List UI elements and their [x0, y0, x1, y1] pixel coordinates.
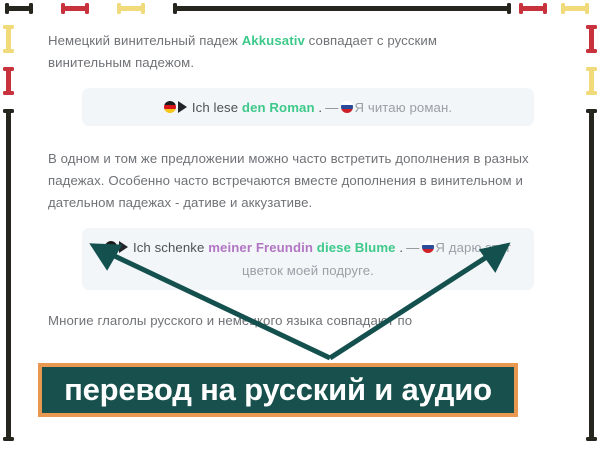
akkusativ-highlight: Akkusativ — [242, 33, 305, 48]
german-flag-icon — [164, 101, 176, 113]
example-2-de-prefix: Ich schenke — [133, 240, 208, 255]
callout-banner-label: перевод на русский и аудио — [64, 372, 492, 408]
example-2-de-accusative: diese Blume — [317, 240, 396, 255]
example-box-1[interactable]: Ich lese den Roman .—Я читаю роман. — [82, 88, 534, 126]
example-2-de-dative: meiner Freundin — [208, 240, 313, 255]
russian-flag-icon — [422, 241, 434, 253]
callout-banner: перевод на русский и аудио — [38, 363, 518, 417]
lesson-content: Немецкий винительный падеж Akkusativ сов… — [0, 0, 600, 460]
example-1-de-prefix: Ich lese — [192, 100, 242, 115]
example-1-de-accusative: den Roman — [242, 100, 315, 115]
middle-paragraph: В одном и том же предложении можно часто… — [48, 148, 532, 214]
intro-paragraph: Немецкий винительный падеж Akkusativ сов… — [48, 30, 518, 74]
play-icon[interactable] — [119, 241, 128, 253]
page-root: Немецкий винительный падеж Akkusativ сов… — [0, 0, 600, 460]
example-box-2[interactable]: Ich schenke meiner Freundin diese Blume … — [82, 228, 534, 290]
german-flag-icon — [105, 241, 117, 253]
bottom-paragraph: Многие глаголы русского и немецкого язык… — [48, 310, 532, 332]
play-icon[interactable] — [178, 101, 187, 113]
russian-flag-icon — [341, 101, 353, 113]
example-1-ru-text: Я читаю роман. — [354, 100, 452, 115]
example-1-line: Ich lese den Roman .—Я читаю роман. — [150, 96, 466, 119]
example-2-separator: — — [403, 240, 422, 255]
intro-text-1: Немецкий винительный падеж — [48, 33, 242, 48]
example-2-line: Ich schenke meiner Freundin diese Blume … — [82, 236, 534, 282]
example-1-separator: — — [322, 100, 341, 115]
example-2-de-suffix: . — [396, 240, 404, 255]
